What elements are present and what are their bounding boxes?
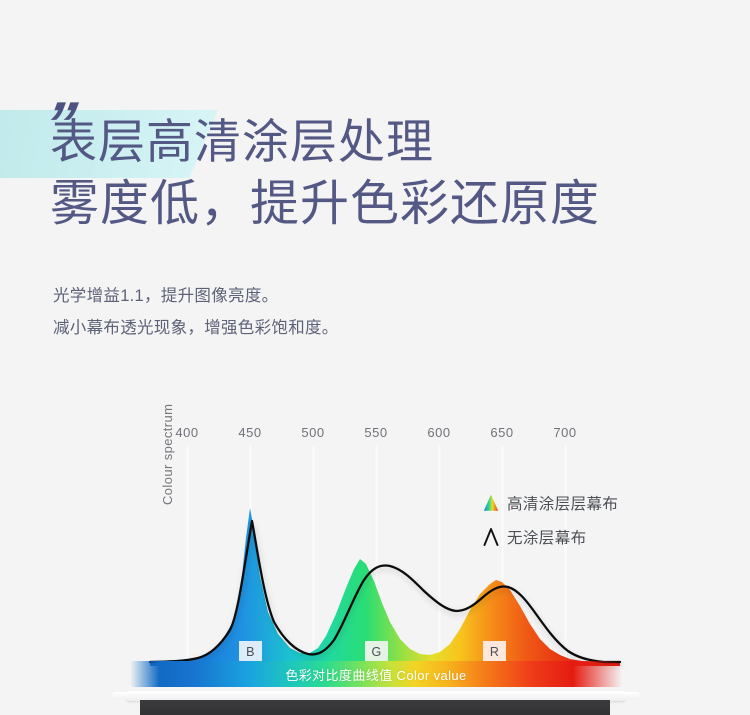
- marker-chip-g: G: [365, 641, 388, 662]
- black-peak-icon: [482, 527, 500, 546]
- subcopy-block: 光学增益1.1，提升图像亮度。 减小幕布透光现象，增强色彩饱和度。: [53, 283, 653, 347]
- page-title-line1: 表层高清涂层处理: [50, 114, 434, 170]
- subcopy-line2: 减小幕布透光现象，增强色彩饱和度。: [53, 315, 653, 341]
- legend-item-uncoated[interactable]: 无涂层幕布: [482, 524, 662, 549]
- legend-label-coated: 高清涂层层幕布: [507, 492, 618, 514]
- rainbow-peak-icon: [482, 493, 500, 512]
- marker-chip-r: R: [483, 641, 506, 662]
- marker-chip-b: B: [239, 641, 262, 662]
- heading-block: ” 表层高清涂层处理 雾度低，提升色彩还原度: [0, 96, 750, 266]
- legend-item-coated[interactable]: 高清涂层层幕布: [482, 490, 662, 515]
- promo-page: ” 表层高清涂层处理 雾度低，提升色彩还原度 光学增益1.1，提升图像亮度。 减…: [0, 0, 750, 715]
- color-value-bar: 色彩对比度曲线值 Color value: [130, 661, 622, 687]
- y-axis-label: Colour spectrum: [160, 404, 175, 505]
- legend-label-uncoated: 无涂层幕布: [507, 526, 587, 548]
- page-title-line2: 雾度低，提升色彩还原度: [50, 176, 600, 232]
- projector-screen-body: [140, 700, 610, 715]
- chart-legend: 高清涂层层幕布 无涂层幕布: [482, 490, 662, 558]
- subcopy-line1: 光学增益1.1，提升图像亮度。: [53, 283, 653, 309]
- color-value-bar-label: 色彩对比度曲线值 Color value: [130, 661, 622, 687]
